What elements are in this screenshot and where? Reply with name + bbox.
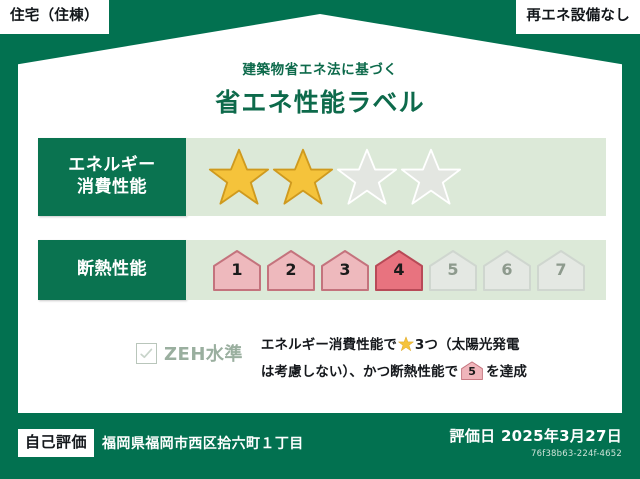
property-address: 福岡県福岡市西区拾六町１丁目: [102, 433, 304, 453]
energy-performance-label: 住宅（住棟） 再エネ設備なし 建築物省エネ法に基づく 省エネ性能ラベル エネルギ…: [0, 0, 640, 479]
insulation-level-badge: 2: [266, 249, 316, 291]
insulation-level-value: 2: [266, 262, 316, 278]
insulation-level-badge: 1: [212, 249, 262, 291]
star-icon-empty: [400, 147, 462, 207]
insulation-level-badge: 3: [320, 249, 370, 291]
zeh-mark: ZEH水準: [38, 326, 243, 366]
insulation-level-value: 1: [212, 262, 262, 278]
evaluation-date: 評価日 2025年3月27日: [450, 425, 622, 446]
renewable-equipment-tag: 再エネ設備なし: [516, 0, 640, 34]
energy-rating-panel: [186, 138, 606, 216]
insulation-level-value: 4: [374, 262, 424, 278]
label-footer: 自己評価 福岡県福岡市西区拾六町１丁目 評価日 2025年3月27日 76f38…: [0, 413, 640, 479]
star-icon-empty: [336, 147, 398, 207]
footer-right-group: 評価日 2025年3月27日 76f38b63-224f-4652: [450, 425, 622, 459]
zeh-description: エネルギー消費性能で 3つ（太陽光発電 は考慮しない）、かつ断熱性能で 5 を達…: [243, 326, 606, 384]
checkbox-unchecked-icon: [136, 343, 157, 364]
insulation-level-badge: 6: [482, 249, 532, 291]
insulation-level-badge: 7: [536, 249, 586, 291]
star-rating: [202, 147, 462, 207]
insulation-performance-label: 断熱性能: [38, 240, 186, 300]
zeh-desc-part-1: エネルギー消費性能で: [261, 337, 397, 353]
zeh-desc-part-2: は考慮しない）、かつ断熱性能で: [261, 364, 458, 380]
insulation-rating-panel: 1234567: [186, 240, 606, 300]
zeh-standard-block: ZEH水準 エネルギー消費性能で 3つ（太陽光発電 は考慮しない）、かつ断熱性能…: [38, 326, 606, 384]
star-icon-filled: [208, 147, 270, 207]
insulation-level-badge: 5: [428, 249, 478, 291]
self-evaluation-badge: 自己評価: [18, 429, 94, 457]
insulation-label-text: 断熱性能: [77, 259, 147, 281]
insulation-level-value: 5: [428, 262, 478, 278]
insulation-level-value: 3: [320, 262, 370, 278]
zeh-label: ZEH水準: [164, 340, 243, 366]
title-block: 建築物省エネ法に基づく 省エネ性能ラベル: [0, 58, 640, 119]
insulation-level-value: 6: [482, 262, 532, 278]
zeh-desc-part-3: を達成: [486, 364, 527, 380]
insulation-level-scale: 1234567: [202, 249, 586, 291]
evaluation-id: 76f38b63-224f-4652: [450, 449, 622, 459]
energy-performance-row: エネルギー 消費性能: [38, 138, 606, 216]
energy-label-line-1: エネルギー: [68, 155, 156, 177]
insulation-level-value: 7: [536, 262, 586, 278]
subtitle-law: 建築物省エネ法に基づく: [0, 58, 640, 78]
page-title: 省エネ性能ラベル: [0, 83, 640, 119]
insulation-badge-inline: 5: [460, 361, 484, 380]
energy-performance-label: エネルギー 消費性能: [38, 138, 186, 216]
star-icon-filled: [272, 147, 334, 207]
insulation-badge-inline-value: 5: [460, 366, 484, 377]
insulation-performance-row: 断熱性能 1234567: [38, 240, 606, 300]
insulation-level-badge: 4: [374, 249, 424, 291]
energy-label-line-2: 消費性能: [77, 177, 147, 199]
building-type-tag: 住宅（住棟）: [0, 0, 109, 34]
footer-left-group: 自己評価 福岡県福岡市西区拾六町１丁目: [18, 429, 304, 457]
zeh-desc-star-count: 3つ（太陽光発電: [415, 337, 520, 353]
star-icon-inline: [398, 336, 414, 361]
